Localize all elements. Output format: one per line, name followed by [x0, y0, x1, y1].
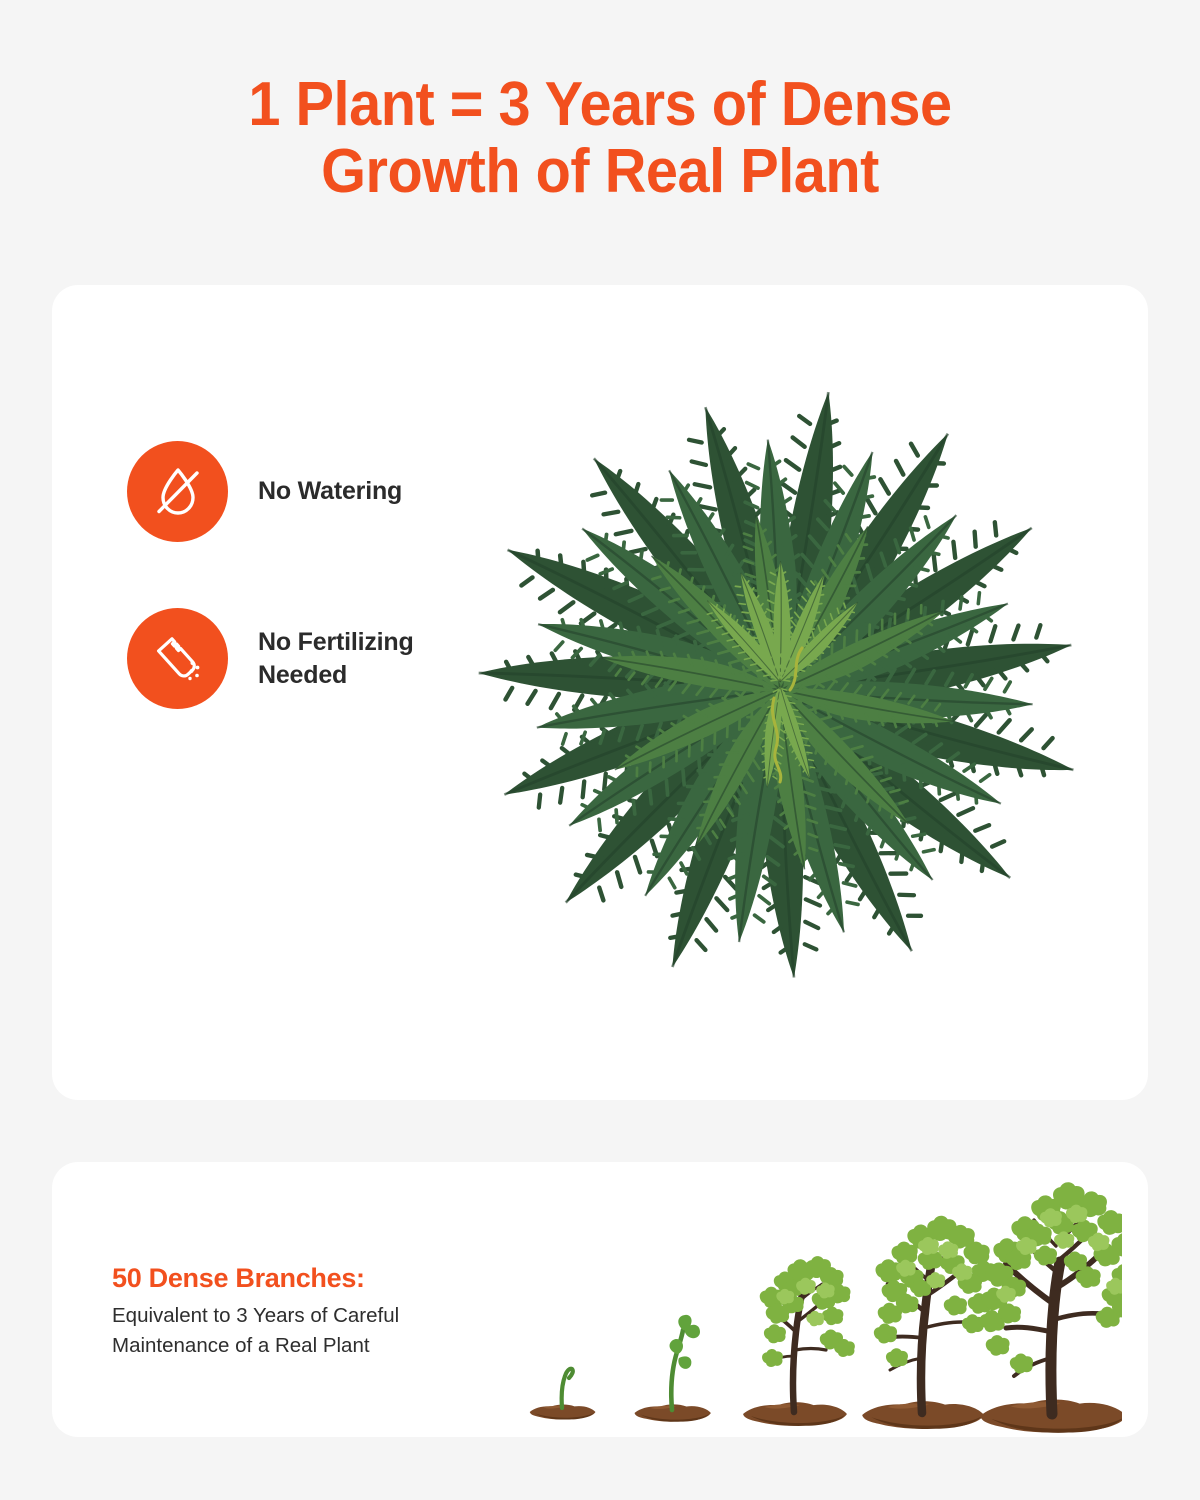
- growth-heading: 50 Dense Branches:: [112, 1262, 532, 1294]
- no-water-drop-icon: [127, 441, 228, 542]
- page-title-line-1: 1 Plant = 3 Years of Dense: [42, 72, 1158, 139]
- feature-no-fertilizing: No Fertilizing Needed: [127, 608, 414, 709]
- feature-label: No Watering: [258, 475, 402, 508]
- page-title: 1 Plant = 3 Years of Dense Growth of Rea…: [42, 72, 1158, 206]
- feature-no-watering: No Watering: [127, 441, 402, 542]
- growth-equivalence-card: 50 Dense Branches: Equivalent to 3 Years…: [52, 1162, 1148, 1437]
- infographic-page: 1 Plant = 3 Years of Dense Growth of Rea…: [0, 0, 1200, 1500]
- no-fertilizer-bag-icon: [127, 608, 228, 709]
- growth-stages-illustration: [522, 1172, 1122, 1434]
- page-title-line-2: Growth of Real Plant: [42, 139, 1158, 206]
- feature-label: No Fertilizing Needed: [258, 626, 414, 692]
- growth-body: Equivalent to 3 Years of Careful Mainten…: [112, 1301, 532, 1359]
- plant-feature-card: No Watering No Fertilizing Needed: [52, 285, 1148, 1100]
- fern-plant-image: [450, 390, 1110, 1000]
- growth-text-block: 50 Dense Branches: Equivalent to 3 Years…: [112, 1262, 532, 1360]
